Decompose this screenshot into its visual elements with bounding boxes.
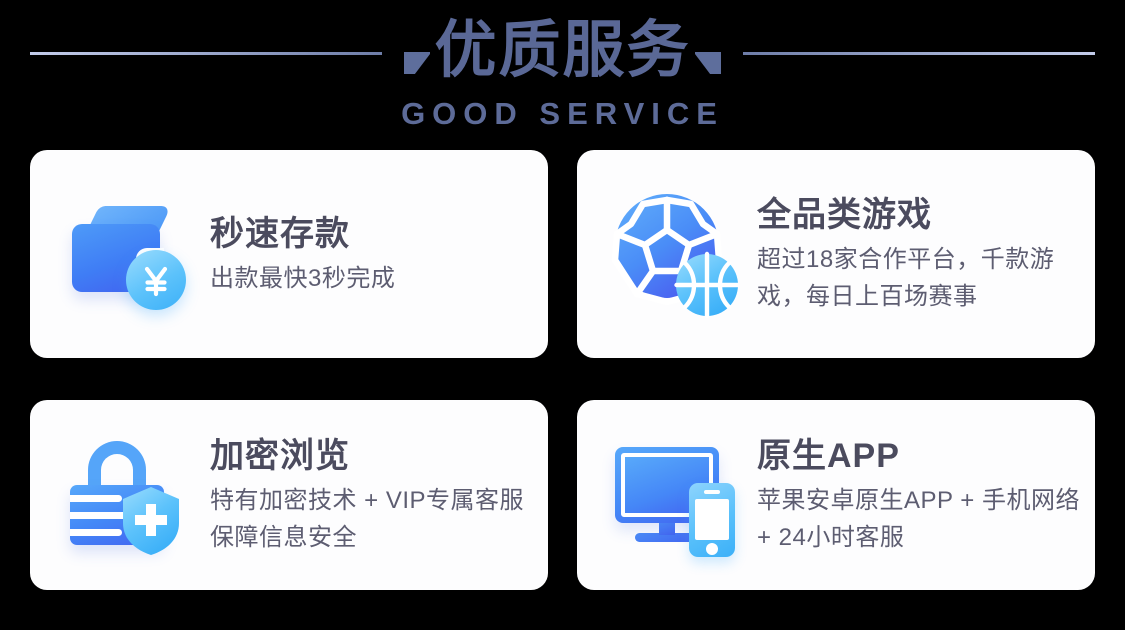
card-icon-wrapper: [62, 184, 202, 324]
card-description: 苹果安卓原生APP + 手机网络 + 24小时客服: [757, 482, 1085, 556]
shield-cross-icon: [120, 485, 182, 557]
card-title: 秒速存款: [210, 212, 395, 256]
card-icon-wrapper: [62, 425, 202, 565]
good-service-banner: 优质服务 GOOD SERVICE: [0, 0, 1125, 630]
card-text-wrapper: 原生APP 苹果安卓原生APP + 手机网络 + 24小时客服: [757, 434, 1095, 556]
feature-card-all-games[interactable]: 全品类游戏 超过18家合作平台，千款游戏，每日上百场赛事: [577, 150, 1095, 358]
lock-slot-icon: [70, 495, 122, 502]
feature-card-encrypted-browsing[interactable]: 加密浏览 特有加密技术 + VIP专属客服保障信息安全: [30, 400, 548, 590]
card-description: 超过18家合作平台，千款游戏，每日上百场赛事: [757, 241, 1085, 315]
phone-screen-icon: [695, 499, 729, 540]
yen-coin-icon: [126, 250, 186, 310]
card-description: 出款最快3秒完成: [210, 260, 395, 297]
page-subtitle: GOOD SERVICE: [0, 96, 1125, 132]
card-text-wrapper: 秒速存款 出款最快3秒完成: [210, 212, 405, 297]
card-text-wrapper: 全品类游戏 超过18家合作平台，千款游戏，每日上百场赛事: [757, 193, 1095, 315]
phone-speaker-icon: [704, 490, 720, 494]
banner-header: 优质服务 GOOD SERVICE: [0, 0, 1125, 145]
card-text-wrapper: 加密浏览 特有加密技术 + VIP专属客服保障信息安全: [210, 434, 548, 556]
card-icon-wrapper: [609, 425, 749, 565]
card-title: 加密浏览: [210, 434, 538, 478]
card-title: 全品类游戏: [757, 193, 1085, 237]
feature-card-instant-deposit[interactable]: 秒速存款 出款最快3秒完成: [30, 150, 548, 358]
feature-card-native-app[interactable]: 原生APP 苹果安卓原生APP + 手机网络 + 24小时客服: [577, 400, 1095, 590]
monitor-phone-icon: [609, 425, 749, 565]
feature-card-grid: 秒速存款 出款最快3秒完成: [30, 150, 1095, 590]
page-title: 优质服务: [0, 8, 1125, 92]
soccer-basketball-icon: [609, 184, 749, 324]
monitor-stand-icon: [659, 521, 675, 535]
lock-shield-icon: [62, 425, 202, 565]
card-description: 特有加密技术 + VIP专属客服保障信息安全: [210, 482, 538, 556]
phone-home-button-icon: [706, 543, 718, 555]
lock-slot-icon: [70, 529, 122, 536]
card-icon-wrapper: [609, 184, 749, 324]
wallet-yen-coin-icon: [62, 184, 202, 324]
card-title: 原生APP: [757, 434, 1085, 478]
phone-icon: [689, 483, 735, 557]
